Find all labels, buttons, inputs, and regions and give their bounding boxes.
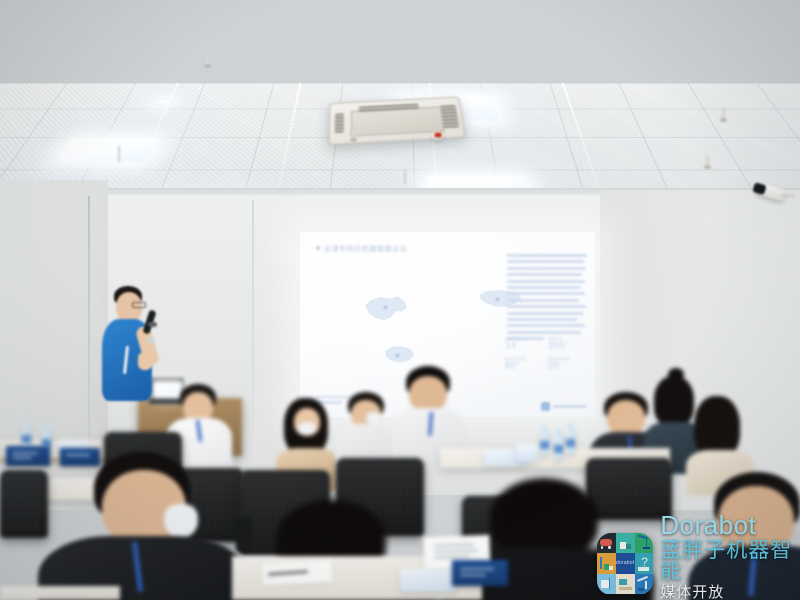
- front-desk: [0, 586, 120, 600]
- tent-card-line: [12, 457, 32, 459]
- water-bottle: [566, 428, 575, 454]
- sprinkler-head: [352, 128, 355, 139]
- stat-block: 全球研发中心 14+: [505, 336, 544, 351]
- brand-name-en: Dorabot: [660, 512, 800, 538]
- event-watermark: dorabot ? Dorabot 蓝胖子机器智能: [597, 512, 800, 600]
- logo-tile-sorting-orange: [597, 553, 616, 574]
- logo-tile-question: ?: [635, 553, 654, 574]
- card-line: [434, 543, 474, 546]
- face-mask: [298, 422, 316, 435]
- audience-member-foreground: [48, 452, 238, 600]
- ceiling-hanger: [404, 170, 406, 184]
- wall-panel-seam: [252, 200, 254, 430]
- map-marker: [384, 306, 387, 309]
- logo-tile-pick-arm: [635, 574, 654, 595]
- logo-tile-parcel-scan: [597, 574, 616, 595]
- head: [409, 376, 447, 412]
- water-bottle: [540, 430, 549, 456]
- logo-tile-boxes-teal: [616, 533, 635, 554]
- logo-tile-conveyor-red: [597, 533, 616, 554]
- face-mask: [164, 504, 198, 538]
- card-line: [434, 556, 470, 559]
- logo-tile-center-wordmark: dorabot: [616, 553, 635, 574]
- stat-block: 技术人员占比 60%: [505, 356, 544, 371]
- ceiling-hanger: [118, 146, 120, 162]
- presenter-hand: [138, 352, 152, 370]
- microphone-band: [148, 322, 157, 327]
- wristwatch: [146, 338, 155, 343]
- slide-logo-wordmark: [553, 405, 587, 408]
- hair-bun: [654, 376, 694, 426]
- event-name: 媒体开放日: [660, 585, 737, 600]
- dorabot-logo-icon: dorabot ?: [597, 533, 653, 595]
- ac-vent: [440, 105, 459, 128]
- tissue-box: [400, 568, 456, 592]
- sprinkler-head: [722, 108, 725, 119]
- name-tent-card: [6, 446, 50, 466]
- map-marker: [396, 354, 399, 357]
- stat-block: 研发人员 300+: [548, 336, 587, 351]
- sprinkler-head: [706, 155, 709, 166]
- hair: [490, 478, 598, 558]
- tent-card-line: [12, 452, 38, 454]
- watermark-event-row: 媒体开放日 2022.07.15: [660, 585, 800, 600]
- glasses-icon: [132, 302, 146, 308]
- head: [607, 400, 645, 436]
- ac-vent: [335, 113, 344, 133]
- logo-tile-robot-arm: [635, 533, 654, 554]
- map-marker: [496, 298, 499, 301]
- stat-block: 核心技术专利 20+: [548, 356, 587, 371]
- slide-stats: 全球研发中心 14+ 研发人员 300+ 技术人员占比 60% 核心技术专利 2…: [505, 336, 587, 372]
- tent-card-line: [460, 568, 494, 570]
- sprinkler-head: [206, 54, 209, 65]
- bullet-icon: [316, 246, 320, 250]
- camera-mount-arm: [781, 194, 795, 197]
- slide-brand-logo: [541, 402, 587, 411]
- chair-mesh-back: [5, 475, 43, 533]
- slide-logo-mark-icon: [541, 402, 550, 411]
- watermark-text: Dorabot 蓝胖子机器智能 媒体开放日 2022.07.15: [660, 512, 800, 600]
- logo-tile-workstation: [616, 574, 635, 595]
- ceiling-light-panel: [57, 138, 158, 161]
- smoke-detector: [432, 131, 443, 140]
- presenter: [96, 286, 170, 418]
- tent-card-line: [460, 574, 486, 576]
- tissue-pack: [516, 444, 538, 462]
- name-tent-card: [452, 560, 508, 586]
- brand-name-cn: 蓝胖子机器智能: [660, 540, 800, 582]
- screenshot-root: 全球布局的机器智能企业 全球研发中心 14+ 研发人员 300+ 技术人员: [0, 0, 800, 600]
- card-line: [434, 549, 478, 552]
- slide-paragraph: [507, 254, 587, 343]
- office-chair: [0, 470, 48, 538]
- air-conditioner-unit: [328, 97, 466, 146]
- hair-long: [694, 396, 740, 458]
- water-bottle: [554, 434, 563, 460]
- slide-title: 全球布局的机器智能企业: [316, 244, 408, 254]
- hair-bun-top: [668, 368, 684, 381]
- wall-corner-seam: [88, 196, 90, 476]
